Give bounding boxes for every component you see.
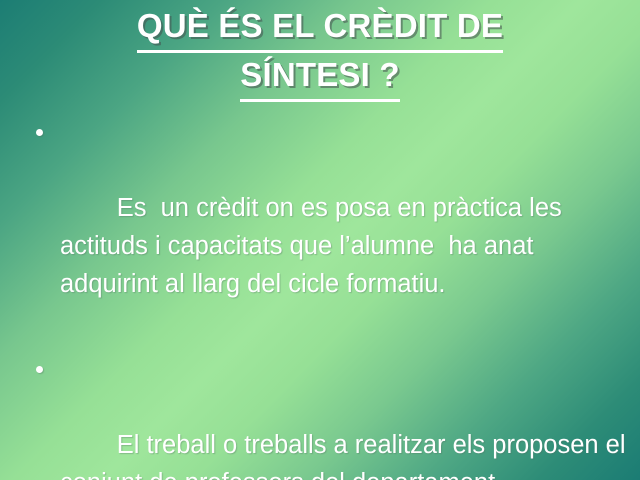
slide-title-line-1: QUÈ ÉS EL CRÈDIT DE bbox=[40, 4, 600, 53]
bullet-dot-icon bbox=[36, 366, 43, 373]
slide-title: QUÈ ÉS EL CRÈDIT DE SÍNTESI ? bbox=[40, 4, 600, 102]
list-item: Es un crèdit on es posa en pràctica les … bbox=[22, 113, 628, 341]
list-item-text: El treball o treballs a realitzar els pr… bbox=[60, 431, 633, 480]
bullet-dot-icon bbox=[36, 129, 43, 136]
slide-content: QUÈ ÉS EL CRÈDIT DE SÍNTESI ? Es un crèd… bbox=[0, 0, 640, 480]
slide-bullet-list: Es un crèdit on es posa en pràctica les … bbox=[22, 113, 628, 480]
slide-title-line-2-text: SÍNTESI ? bbox=[240, 53, 400, 102]
presentation-slide: QUÈ ÉS EL CRÈDIT DE SÍNTESI ? Es un crèd… bbox=[0, 0, 640, 480]
list-item: El treball o treballs a realitzar els pr… bbox=[22, 350, 628, 480]
slide-title-line-2: SÍNTESI ? bbox=[40, 53, 600, 102]
list-item-text: Es un crèdit on es posa en pràctica les … bbox=[60, 194, 569, 298]
slide-title-line-1-text: QUÈ ÉS EL CRÈDIT DE bbox=[137, 4, 503, 53]
